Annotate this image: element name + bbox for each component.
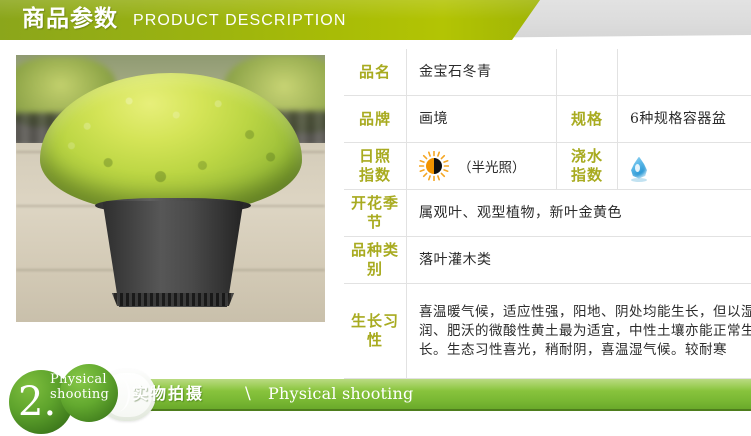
- spec-label-sunlight-index: 日照 指数: [344, 143, 407, 190]
- page-title-cn: 商品参数: [22, 4, 118, 34]
- spec-label-product-name: 品名: [344, 49, 407, 96]
- section-title-cn: 实物拍摄: [132, 384, 204, 404]
- spec-value-sunlight-note: （半光照）: [458, 156, 526, 176]
- spec-label-brand: 品牌: [344, 96, 407, 143]
- photo-pot-ridge: [108, 293, 238, 306]
- sunlight-value-group: （半光照）: [407, 151, 556, 181]
- half-sun-icon: [419, 151, 449, 181]
- photo-pot: [98, 201, 248, 307]
- spec-value-brand: 画境: [407, 96, 557, 143]
- spec-value-flowering-season: 属观叶、观型植物，新叶金黄色: [407, 190, 751, 237]
- spec-label-watering-line1: 浇水: [557, 147, 617, 166]
- spec-table-wrapper: 品名 金宝石冬青 品牌 画境 规格 6种规格容器盆 日照 指数: [344, 49, 742, 379]
- section-green-bar-sheen: [108, 379, 751, 391]
- table-row: 日照 指数: [344, 143, 751, 190]
- product-photo: [16, 55, 325, 322]
- section-separator: \: [245, 383, 251, 405]
- table-row: 开花季节 属观叶、观型植物，新叶金黄色: [344, 190, 751, 237]
- spec-value-variety-category: 落叶灌木类: [407, 237, 751, 284]
- spec-value-product-name: 金宝石冬青: [407, 49, 557, 96]
- product-description-page: 商品参数 PRODUCT DESCRIPTION 品名 金宝石冬青: [0, 0, 751, 436]
- table-row: 品牌 画境 规格 6种规格容器盆: [344, 96, 751, 143]
- section-number-badge: 2. Physical shooting: [4, 362, 116, 434]
- water-drop-highlight: [635, 164, 640, 172]
- spec-label-watering-line2: 指数: [557, 166, 617, 185]
- spec-label-empty-1: [557, 49, 618, 96]
- table-row: 品种类别 落叶灌木类: [344, 237, 751, 284]
- spec-value-watering-index: [618, 143, 751, 190]
- spec-label-sunlight-line1: 日照: [344, 147, 406, 166]
- spec-label-sunlight-line2: 指数: [344, 166, 406, 185]
- section-header-banner: 商品参数 PRODUCT DESCRIPTION: [0, 0, 751, 46]
- spec-label-flowering-season: 开花季节: [344, 190, 407, 237]
- section-title-en: Physical shooting: [268, 384, 413, 404]
- spec-value-specification: 6种规格容器盆: [618, 96, 751, 143]
- spec-value-empty-1: [618, 49, 751, 96]
- section-2-banner: 2. Physical shooting 实物拍摄 \ Physical sho…: [0, 362, 751, 436]
- half-sun-core: [426, 158, 442, 174]
- spec-table: 品名 金宝石冬青 品牌 画境 规格 6种规格容器盆 日照 指数: [344, 49, 751, 379]
- table-row: 品名 金宝石冬青: [344, 49, 751, 96]
- spec-label-specification: 规格: [557, 96, 618, 143]
- spec-label-watering-index: 浇水 指数: [557, 143, 618, 190]
- water-drop-shadow: [631, 178, 647, 182]
- spec-label-variety-category: 品种类别: [344, 237, 407, 284]
- page-title-en: PRODUCT DESCRIPTION: [133, 10, 347, 32]
- spec-value-sunlight-index: （半光照）: [407, 143, 557, 190]
